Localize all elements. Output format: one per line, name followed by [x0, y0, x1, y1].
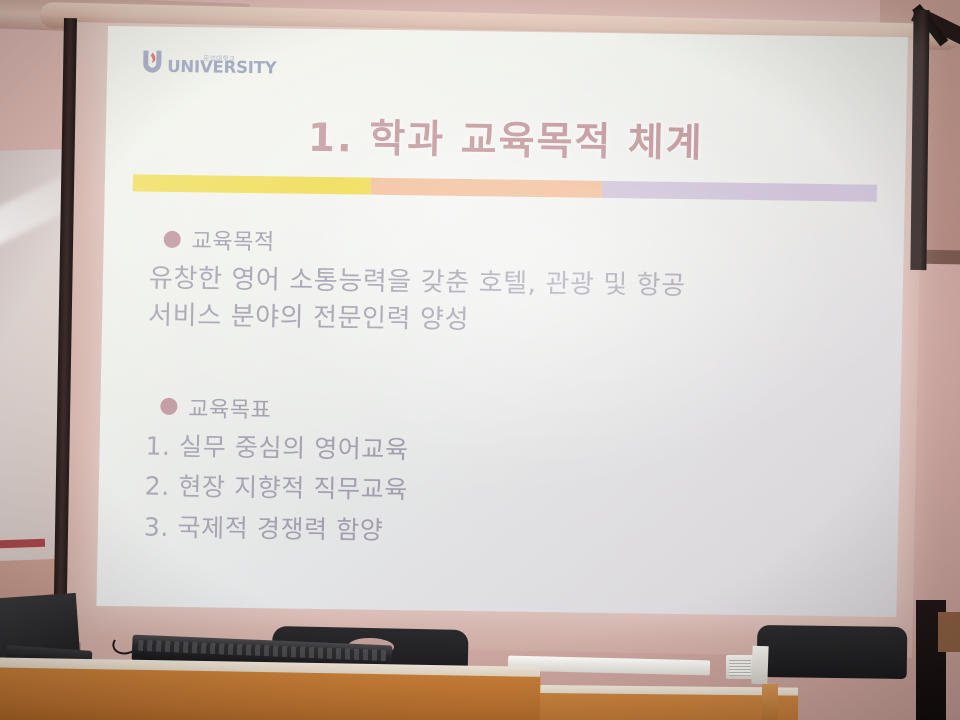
desk-front [0, 667, 540, 720]
university-logo: UNIVERSITY 문성대학교 [139, 48, 277, 77]
desk-panel-edge [751, 646, 768, 685]
color-bar-segment-lavender [601, 181, 877, 202]
logo-korean-subtext: 문성대학교 [203, 52, 235, 62]
section-educational-purpose: 교육목적 유창한 영어 소통능력을 갖춘 호텔, 관광 및 항공 서비스 분야의… [148, 223, 874, 345]
slide-canvas: UNIVERSITY 문성대학교 1. 학과 교육목적 체계 교육목적 유창한 … [96, 26, 908, 617]
color-bar-segment-peach [371, 178, 602, 198]
screen-border-right [910, 10, 929, 270]
decorative-color-bar [133, 174, 877, 201]
purpose-paragraph: 유창한 영어 소통능력을 갖춘 호텔, 관광 및 항공 서비스 분야의 전문인력… [148, 261, 873, 345]
slide-title: 1. 학과 교육목적 체계 [105, 104, 906, 171]
section-heading-label: 교육목표 [188, 391, 272, 424]
desk-edge-right [762, 684, 778, 720]
classroom-scene: UNIVERSITY 문성대학교 1. 학과 교육목적 체계 교육목적 유창한 … [0, 0, 960, 720]
section-heading-label: 교육목적 [191, 223, 275, 256]
section-spacer [147, 334, 872, 400]
objectives-list: 1. 실무 중심의 영어교육 2. 현장 지향적 직무교육 3. 국제적 경쟁력… [144, 426, 870, 558]
bullet-dot-icon [164, 230, 181, 247]
section-heading-row: 교육목적 [163, 223, 874, 265]
bullet-dot-icon [160, 398, 177, 415]
projected-slide: UNIVERSITY 문성대학교 1. 학과 교육목적 체계 교육목적 유창한 … [96, 26, 908, 617]
section-educational-objectives: 교육목표 1. 실무 중심의 영어교육 2. 현장 지향적 직무교육 3. 국제… [144, 390, 871, 558]
slide-body: 교육목적 유창한 영어 소통능력을 갖춘 호텔, 관광 및 항공 서비스 분야의… [144, 223, 874, 558]
color-bar-segment-yellow [133, 174, 371, 194]
university-logo-icon [139, 48, 166, 75]
chair-secondary [757, 625, 908, 679]
desktop-device [726, 655, 754, 679]
right-shelf [938, 612, 960, 652]
